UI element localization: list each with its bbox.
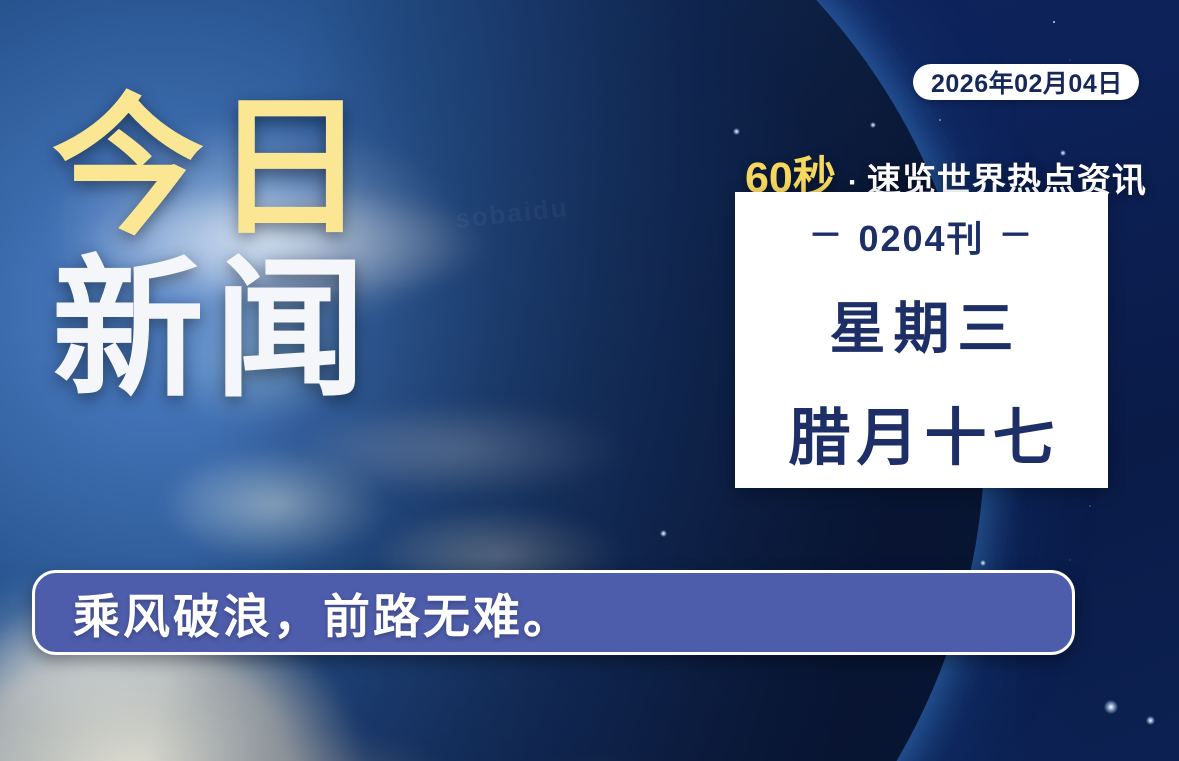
info-card: － 0204刊 － 星期三 腊月十七	[735, 192, 1108, 488]
weekday-label: 星期三	[822, 284, 1022, 365]
page-title-line-1: 今日	[52, 96, 376, 242]
issue-number: 0204刊	[858, 210, 984, 262]
issue-dash-right: －	[999, 219, 1035, 253]
date-pill: 2026年02月04日	[913, 64, 1139, 100]
issue-row: － 0204刊 －	[808, 210, 1034, 262]
quote-banner: 乘风破浪，前路无难。	[32, 570, 1075, 655]
quote-banner-text: 乘风破浪，前路无难。	[73, 578, 573, 647]
issue-dash-left: －	[808, 219, 844, 253]
date-pill-label: 2026年02月04日	[931, 64, 1123, 100]
news-poster: sobaidu 2026年02月04日 今日 新闻 60秒 · 速览世界热点资讯…	[0, 0, 1179, 761]
page-title: 今日 新闻	[52, 96, 376, 404]
lunar-date-label: 腊月十七	[782, 387, 1060, 477]
page-title-line-2: 新闻	[52, 258, 376, 404]
